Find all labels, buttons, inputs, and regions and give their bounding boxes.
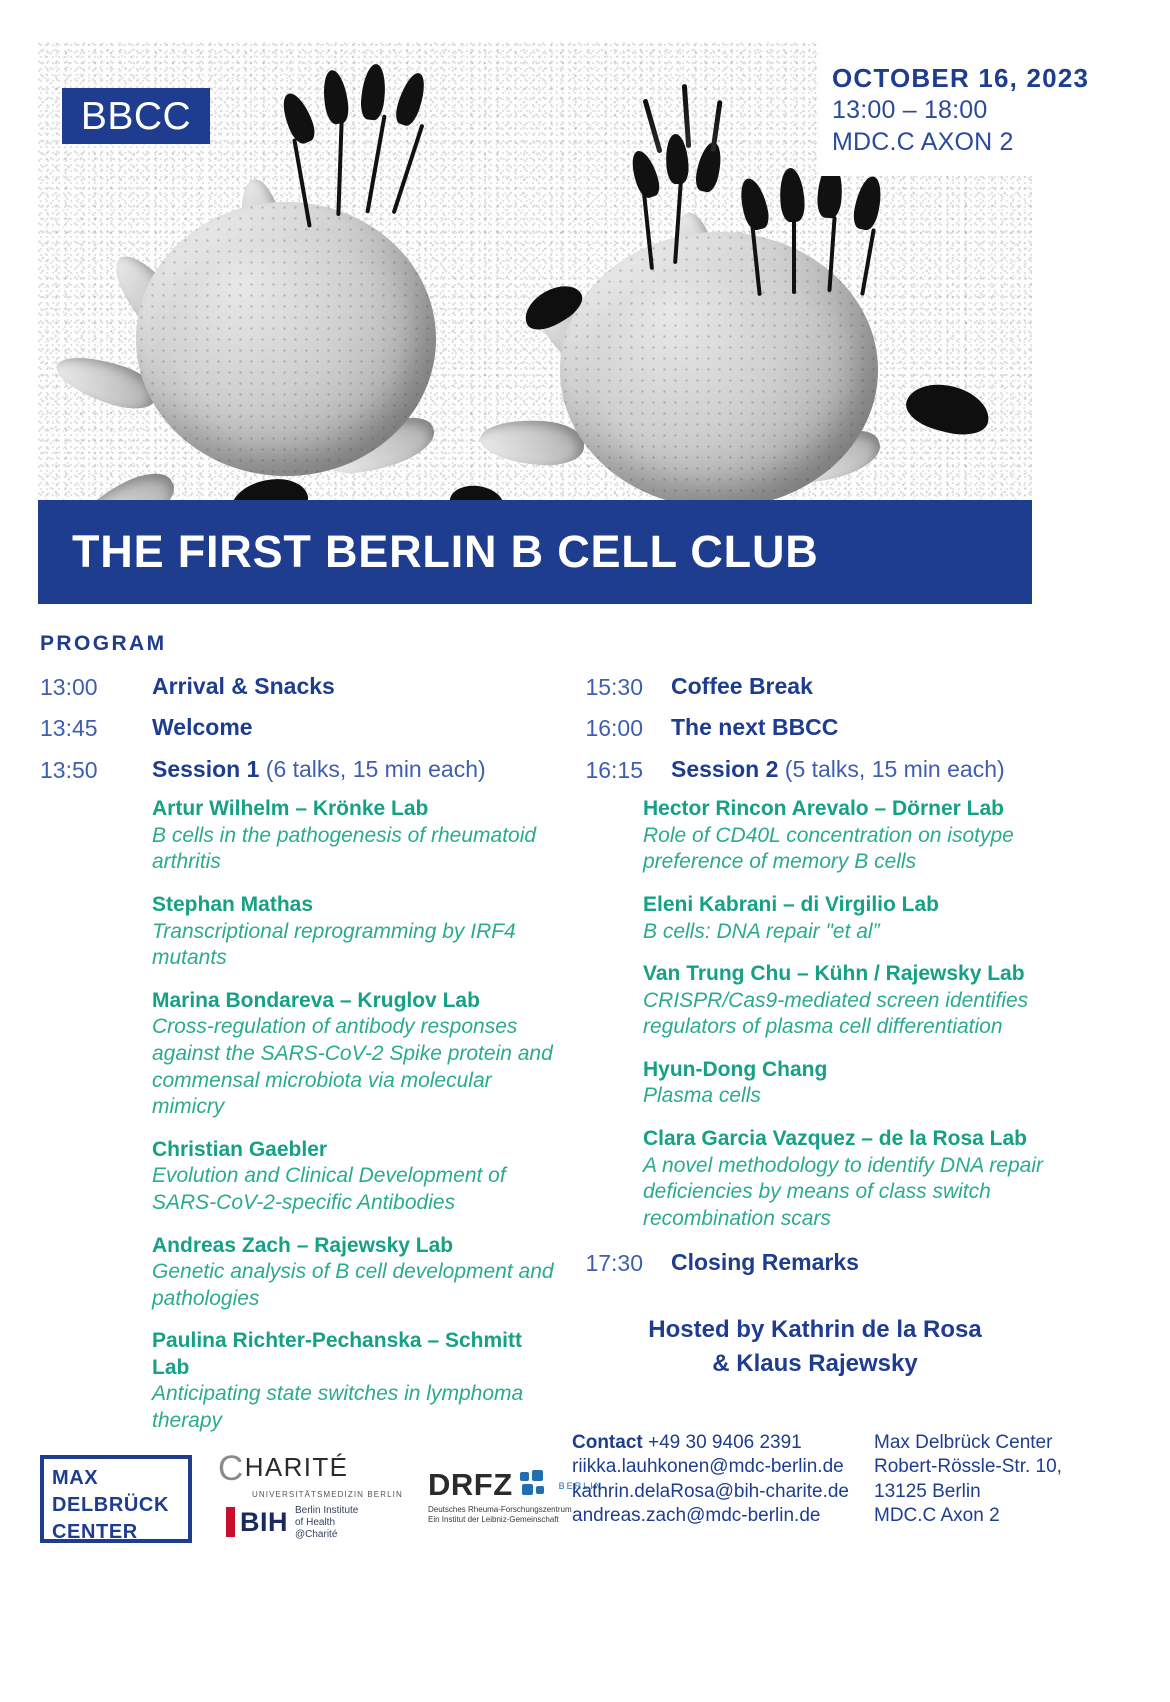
schedule-slot: Session 1 (6 talks, 15 min each) — [152, 755, 560, 784]
event-time: 13:00 – 18:00 — [832, 94, 1132, 127]
page-title: THE FIRST BERLIN B CELL CLUB — [38, 526, 819, 578]
charite-wordmark-rest: HARITÉ — [245, 1452, 349, 1482]
talk-item: Artur Wilhelm – Krönke Lab B cells in th… — [152, 796, 560, 876]
talk-item: Van Trung Chu – Kühn / Rajewsky Lab CRIS… — [643, 961, 1055, 1041]
schedule-row: 15:30 Coffee Break — [535, 672, 1055, 702]
charite-wordmark: CHARITÉ — [218, 1449, 408, 1489]
contact-label: Contact — [572, 1432, 643, 1453]
schedule-time: 15:30 — [535, 672, 671, 702]
talk-item: Christian Gaebler Evolution and Clinical… — [152, 1137, 560, 1217]
schedule-slot: Arrival & Snacks — [152, 672, 560, 701]
talk-speaker: Hector Rincon Arevalo – Dörner Lab — [643, 796, 1055, 822]
charite-subtitle: UNIVERSITÄTSMEDIZIN BERLIN — [252, 1490, 408, 1499]
bih-subtitle: Berlin Institute of Health @Charité — [295, 1505, 358, 1541]
talk-title: Evolution and Clinical Development of SA… — [152, 1163, 560, 1216]
talk-speaker: Hyun-Dong Chang — [643, 1057, 1055, 1083]
bih-subtitle-line-2: of Health — [295, 1517, 358, 1529]
contact-email-3[interactable]: andreas.zach@mdc-berlin.de — [572, 1504, 872, 1528]
poster-root: OCTOBER 16, 2023 13:00 – 18:00 MDC.C AXO… — [0, 0, 1170, 1702]
address-line-3: 13125 Berlin — [874, 1480, 1134, 1504]
schedule-slot: Welcome — [152, 713, 560, 742]
schedule-row: 13:50 Session 1 (6 talks, 15 min each) — [40, 755, 560, 785]
talk-title: Genetic analysis of B cell development a… — [152, 1259, 560, 1312]
schedule-time: 13:50 — [40, 755, 152, 785]
talk-speaker: Paulina Richter-Pechanska – Schmitt Lab — [152, 1328, 560, 1381]
antibody-stem — [792, 218, 796, 294]
drfz-wordmark: DRFZ — [428, 1469, 513, 1500]
bih-red-bar-icon — [226, 1507, 235, 1537]
talk-item: Clara Garcia Vazquez – de la Rosa Lab A … — [643, 1126, 1055, 1232]
schedule-row: 13:00 Arrival & Snacks — [40, 672, 560, 702]
slot-label: The next BBCC — [671, 714, 838, 740]
talk-item: Eleni Kabrani – di Virgilio Lab B cells:… — [643, 892, 1055, 945]
event-date-block: OCTOBER 16, 2023 13:00 – 18:00 MDC.C AXO… — [820, 42, 1132, 176]
contact-phone-line: Contact +49 30 9406 2391 — [572, 1431, 872, 1455]
bih-subtitle-line-3: @Charité — [295, 1529, 358, 1541]
mdc-logo-line-3: CENTER — [52, 1519, 188, 1546]
address-line-1: Max Delbrück Center — [874, 1431, 1134, 1455]
session-2-talk-list: Hector Rincon Arevalo – Dörner Lab Role … — [643, 796, 1055, 1232]
hosted-line-2: & Klaus Rajewsky — [575, 1347, 1055, 1381]
schedule-time: 16:00 — [535, 713, 671, 743]
schedule-row: 16:15 Session 2 (5 talks, 15 min each) — [535, 755, 1055, 785]
talk-speaker: Marina Bondareva – Kruglov Lab — [152, 988, 560, 1014]
talk-title: Cross-regulation of antibody responses a… — [152, 1014, 560, 1121]
talk-item: Hyun-Dong Chang Plasma cells — [643, 1057, 1055, 1110]
talk-item: Paulina Richter-Pechanska – Schmitt Lab … — [152, 1328, 560, 1434]
talk-title: Role of CD40L concentration on isotype p… — [643, 823, 1055, 876]
program-heading: PROGRAM — [40, 632, 166, 656]
address-line-2: Robert-Rössle-Str. 10, — [874, 1455, 1134, 1479]
slot-label: Coffee Break — [671, 673, 813, 699]
poster-title-bar: THE FIRST BERLIN B CELL CLUB — [38, 500, 1032, 604]
charite-logo: CHARITÉ UNIVERSITÄTSMEDIZIN BERLIN — [218, 1449, 408, 1499]
slot-note: (6 talks, 15 min each) — [259, 756, 485, 782]
slot-label: Session 1 — [152, 756, 259, 782]
talk-speaker: Christian Gaebler — [152, 1137, 560, 1163]
contact-phone: +49 30 9406 2391 — [648, 1432, 802, 1453]
event-venue: MDC.C AXON 2 — [832, 126, 1132, 159]
talk-speaker: Eleni Kabrani – di Virgilio Lab — [643, 892, 1055, 918]
slot-note: (5 talks, 15 min each) — [778, 756, 1004, 782]
schedule-slot: The next BBCC — [671, 713, 1055, 742]
talk-item: Hector Rincon Arevalo – Dörner Lab Role … — [643, 796, 1055, 876]
talk-speaker: Clara Garcia Vazquez – de la Rosa Lab — [643, 1126, 1055, 1152]
mdc-logo-line-1: MAX — [52, 1465, 188, 1492]
bbcc-logo-badge: BBCC — [62, 88, 210, 144]
talk-speaker: Van Trung Chu – Kühn / Rajewsky Lab — [643, 961, 1055, 987]
bih-wordmark: BIH — [240, 1509, 288, 1536]
schedule-row: 16:00 The next BBCC — [535, 713, 1055, 743]
schedule-row: 13:45 Welcome — [40, 713, 560, 743]
contact-block: Contact +49 30 9406 2391 riikka.lauhkone… — [572, 1431, 872, 1528]
charite-c-glyph: C — [218, 1449, 245, 1489]
address-block: Max Delbrück Center Robert-Rössle-Str. 1… — [874, 1431, 1134, 1528]
hosted-by-block: Hosted by Kathrin de la Rosa & Klaus Raj… — [535, 1313, 1055, 1381]
schedule-slot: Coffee Break — [671, 672, 1055, 701]
schedule-row-closing: 17:30 Closing Remarks — [535, 1248, 1055, 1278]
event-date: OCTOBER 16, 2023 — [832, 64, 1132, 94]
talk-speaker: Artur Wilhelm – Krönke Lab — [152, 796, 560, 822]
schedule-slot: Closing Remarks — [671, 1248, 1055, 1277]
talk-title: B cells: DNA repair "et al” — [643, 919, 1055, 946]
talk-speaker: Stephan Mathas — [152, 892, 560, 918]
hosted-line-1: Hosted by Kathrin de la Rosa — [575, 1313, 1055, 1347]
talk-item: Andreas Zach – Rajewsky Lab Genetic anal… — [152, 1233, 560, 1313]
talk-title: A novel methodology to identify DNA repa… — [643, 1153, 1055, 1233]
b-cell-left — [136, 202, 436, 476]
slot-label: Arrival & Snacks — [152, 673, 335, 699]
mdc-logo-line-2: DELBRÜCK — [52, 1492, 188, 1519]
max-delbruck-center-logo: MAX DELBRÜCK CENTER — [40, 1455, 192, 1543]
schedule-time: 13:00 — [40, 672, 152, 702]
logo-row: MAX DELBRÜCK CENTER CHARITÉ UNIVERSITÄTS… — [40, 1433, 560, 1563]
schedule-slot: Session 2 (5 talks, 15 min each) — [671, 755, 1055, 784]
bih-logo: BIH Berlin Institute of Health @Charité — [226, 1503, 358, 1541]
schedule-time: 17:30 — [535, 1248, 671, 1278]
contact-email-1[interactable]: riikka.lauhkonen@mdc-berlin.de — [572, 1455, 872, 1479]
address-line-4: MDC.C Axon 2 — [874, 1504, 1134, 1528]
talk-speaker: Andreas Zach – Rajewsky Lab — [152, 1233, 560, 1259]
contact-email-2[interactable]: kathrin.delaRosa@bih-charite.de — [572, 1480, 872, 1504]
schedule-time: 13:45 — [40, 713, 152, 743]
bih-subtitle-line-1: Berlin Institute — [295, 1505, 358, 1517]
talk-title: Plasma cells — [643, 1083, 1055, 1110]
drfz-dots-icon — [520, 1470, 552, 1500]
talk-title: Transcriptional reprogramming by IRF4 mu… — [152, 919, 560, 972]
program-column-left: 13:00 Arrival & Snacks 13:45 Welcome 13:… — [40, 672, 560, 1451]
talk-title: CRISPR/Cas9-mediated screen identifies r… — [643, 988, 1055, 1041]
session-1-talk-list: Artur Wilhelm – Krönke Lab B cells in th… — [152, 796, 560, 1434]
poster-footer: MAX DELBRÜCK CENTER CHARITÉ UNIVERSITÄTS… — [0, 1425, 1170, 1605]
slot-label: Session 2 — [671, 756, 778, 782]
talk-item: Marina Bondareva – Kruglov Lab Cross-reg… — [152, 988, 560, 1121]
schedule-time: 16:15 — [535, 755, 671, 785]
talk-title: B cells in the pathogenesis of rheumatoi… — [152, 823, 560, 876]
program-column-right: 15:30 Coffee Break 16:00 The next BBCC 1… — [535, 672, 1055, 1381]
slot-label: Welcome — [152, 714, 253, 740]
talk-item: Stephan Mathas Transcriptional reprogram… — [152, 892, 560, 972]
